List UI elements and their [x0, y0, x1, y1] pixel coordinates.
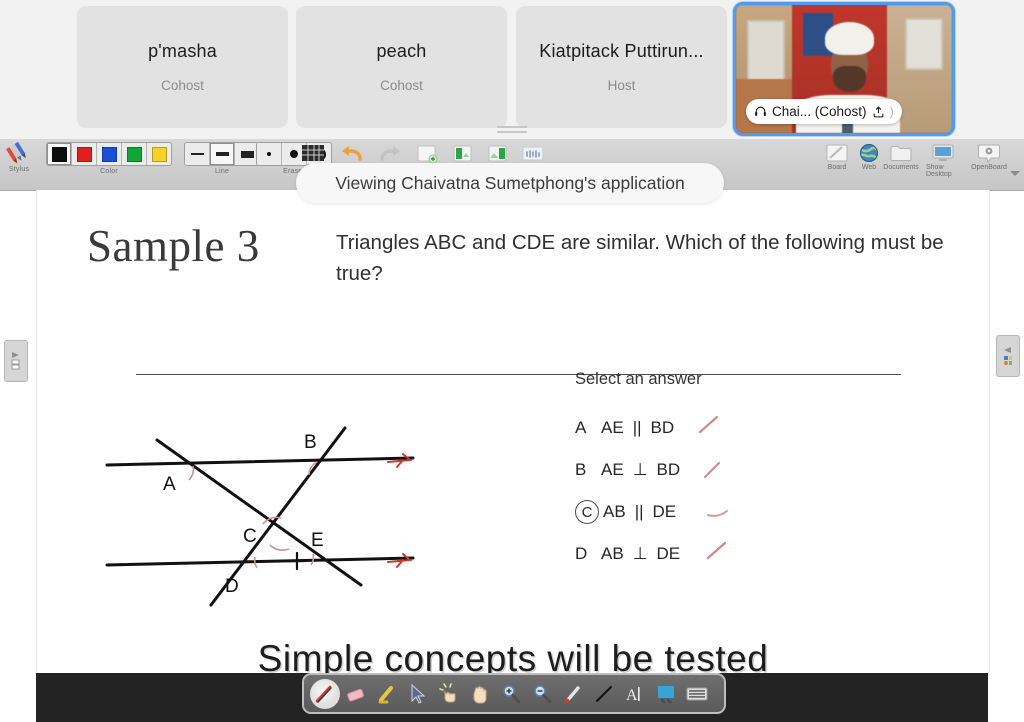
participant-role: Cohost [380, 78, 423, 93]
line-width-thin[interactable] [185, 143, 210, 165]
eraser-tool[interactable] [340, 677, 371, 710]
pages-panel-icon [10, 349, 22, 373]
question-text: Triangles ABC and CDE are similar. Which… [336, 227, 961, 289]
stylus-label: Stylus [9, 166, 29, 173]
laser-tool[interactable] [557, 677, 588, 710]
option-letter: A [575, 418, 601, 438]
keyboard-tool[interactable] [681, 677, 712, 710]
import-page-icon [485, 143, 511, 165]
active-speaker-badge: Chai... (Cohost) ) [746, 99, 902, 124]
openboard-button[interactable]: OpenBoard [972, 143, 1006, 171]
ink-mark [705, 539, 731, 568]
answers-heading: Select an answer [575, 370, 815, 389]
option-relation: || [633, 418, 642, 438]
badge-trailing-glyph: ) [890, 104, 894, 119]
chevron-down-icon[interactable] [1010, 171, 1020, 176]
ink-mark [701, 457, 727, 486]
folder-icon [889, 143, 913, 163]
board-label: Board [828, 164, 847, 171]
participant-name: p'masha [148, 41, 217, 62]
stylus-tool-group[interactable]: Stylus [6, 142, 32, 173]
openboard-label: OpenBoard [971, 164, 1007, 171]
podcast-icon [520, 143, 546, 165]
ink-mark [705, 503, 733, 528]
option-relation: || [635, 502, 644, 522]
web-button[interactable]: Web [852, 143, 886, 171]
answer-option-a[interactable]: A AE || BD [575, 407, 815, 449]
board-button[interactable]: Board [820, 143, 854, 171]
pen-tool[interactable] [310, 679, 340, 709]
line-width-medium[interactable] [210, 143, 235, 165]
line-tool[interactable] [588, 677, 619, 710]
background-grid-icon [301, 143, 325, 163]
option-term-first: AB [603, 502, 626, 522]
similar-triangles-diagram: A B C D E [103, 420, 463, 610]
podcast-button[interactable] [516, 143, 550, 165]
participant-role: Host [608, 78, 636, 93]
page-title: Sample 3 [87, 220, 260, 272]
show-desktop-label: Show Desktop [926, 164, 960, 178]
globe-icon [858, 143, 880, 163]
option-term-second: BD [657, 460, 681, 480]
headset-icon [754, 105, 767, 118]
label-D: D [225, 576, 239, 597]
label-E: E [311, 530, 324, 551]
answer-option-d[interactable]: D AB ⊥ DE [575, 533, 815, 575]
openboard-window: Stylus Color Line [0, 139, 1024, 722]
undo-arrow-icon [340, 143, 366, 165]
option-letter: D [575, 544, 601, 564]
color-label: Color [100, 168, 118, 175]
label-B: B [304, 432, 317, 453]
strip-drag-handle[interactable] [497, 126, 527, 134]
option-relation: ⊥ [633, 460, 648, 480]
color-tool-group[interactable]: Color [46, 142, 172, 175]
monitor-icon [931, 143, 955, 163]
option-term-second: DE [653, 502, 677, 522]
ink-mark [697, 413, 723, 442]
color-swatch-blue[interactable] [97, 143, 122, 165]
gear-icon [977, 143, 1001, 163]
zoom-in-tool[interactable] [495, 677, 526, 710]
color-swatch-yellow[interactable] [147, 143, 171, 165]
duplicate-page-button[interactable] [446, 143, 480, 165]
option-letter: B [575, 460, 601, 480]
stylus-pen-icon [6, 142, 32, 164]
share-upload-icon[interactable] [872, 105, 885, 119]
participant-tile[interactable]: Kiatpitack Puttirun... Host [516, 6, 727, 128]
new-page-button[interactable] [410, 143, 444, 165]
option-term-first: AE [601, 418, 624, 438]
option-term-second: DE [657, 544, 681, 564]
highlighter-tool[interactable] [371, 677, 402, 710]
slide-caption: Simple concepts will be tested [37, 638, 989, 673]
library-panel-icon [1002, 344, 1014, 368]
participant-role: Cohost [161, 78, 204, 93]
line-width-group[interactable]: Line [184, 142, 260, 175]
new-page-icon [414, 143, 440, 165]
library-panel-handle[interactable] [996, 335, 1020, 377]
duplicate-page-icon [450, 143, 476, 165]
documents-button[interactable]: Documents [884, 143, 918, 171]
interact-tool[interactable] [433, 677, 464, 710]
answer-option-c[interactable]: C AB || DE [575, 491, 815, 533]
line-label: Line [215, 168, 229, 175]
video-participant-strip: p'masha Cohost peach Cohost Kiatpitack P… [0, 0, 1024, 136]
capture-tool[interactable] [650, 677, 681, 710]
participant-tile[interactable]: p'masha Cohost [77, 6, 288, 128]
notification-text: Viewing Chaivatna Sumetphong's applicati… [335, 173, 684, 194]
participant-tile[interactable]: peach Cohost [296, 6, 507, 128]
participant-name: peach [376, 41, 426, 62]
board-icon [825, 143, 849, 163]
label-C: C [243, 526, 257, 547]
show-desktop-button[interactable]: Show Desktop [926, 143, 960, 178]
select-tool[interactable] [402, 677, 433, 710]
undo-button[interactable] [336, 143, 370, 165]
pan-tool[interactable] [464, 677, 495, 710]
participant-name: Kiatpitack Puttirun... [539, 41, 703, 62]
label-A: A [163, 474, 176, 495]
whiteboard-canvas[interactable]: Sample 3 Triangles ABC and CDE are simil… [36, 190, 990, 673]
option-relation: ⊥ [633, 544, 648, 564]
option-term-second: BD [651, 418, 675, 438]
redo-button[interactable] [372, 143, 406, 165]
option-term-first: AE [601, 460, 624, 480]
answer-option-b[interactable]: B AE ⊥ BD [575, 449, 815, 491]
web-label: Web [862, 164, 876, 171]
tool-palette[interactable]: A [302, 673, 726, 714]
text-tool[interactable]: A [619, 677, 650, 710]
pages-panel-handle[interactable] [4, 340, 28, 382]
svg-text:A: A [626, 687, 638, 704]
option-letter-selected: C [575, 500, 599, 524]
color-swatch-red[interactable] [72, 143, 97, 165]
active-speaker-tile[interactable]: Chai... (Cohost) ) [733, 2, 955, 136]
option-term-first: AB [601, 544, 624, 564]
import-page-button[interactable] [481, 143, 515, 165]
color-swatch-green[interactable] [122, 143, 147, 165]
documents-label: Documents [883, 164, 918, 171]
color-swatch-black[interactable] [47, 143, 72, 165]
answer-options: Select an answer A AE || BD B AE ⊥ BD [575, 370, 815, 575]
eraser-size-small[interactable] [257, 143, 282, 165]
zoom-out-tool[interactable] [526, 677, 557, 710]
redo-arrow-icon [376, 143, 402, 165]
viewing-notification-banner: Viewing Chaivatna Sumetphong's applicati… [296, 163, 724, 203]
active-speaker-name: Chai... (Cohost) [772, 104, 867, 119]
